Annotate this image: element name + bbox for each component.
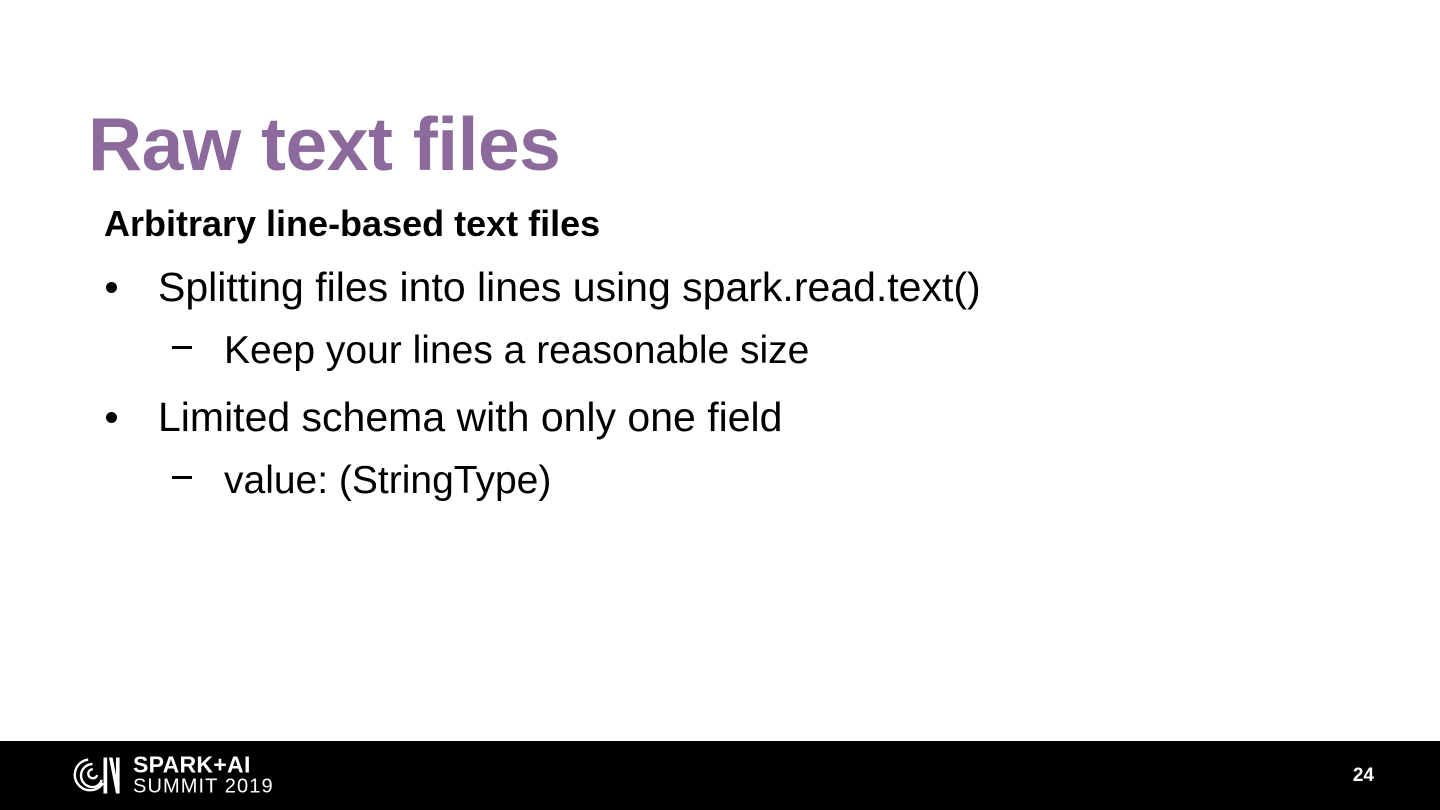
list-item: Limited schema with only one field bbox=[0, 396, 1440, 439]
logo-wordmark: SPARK+AI SUMMIT 2019 bbox=[133, 753, 274, 798]
presentation-slide: Raw text files Arbitrary line-based text… bbox=[0, 0, 1440, 810]
spark-ai-summit-spiral-icon bbox=[72, 754, 124, 798]
logo-secondary-text: SUMMIT 2019 bbox=[133, 777, 274, 798]
slide-body: Arbitrary line-based text files Splittin… bbox=[0, 206, 1440, 502]
lead-heading: Arbitrary line-based text files bbox=[104, 206, 1440, 242]
list-item: value: (StringType) bbox=[0, 461, 1440, 502]
bullet-dot-icon bbox=[100, 399, 158, 429]
list-item-label: Keep your lines a reasonable size bbox=[224, 331, 809, 372]
bullet-list: Splitting files into lines using spark.r… bbox=[0, 266, 1440, 502]
list-item-label: value: (StringType) bbox=[224, 461, 551, 502]
logo-primary-text: SPARK+AI bbox=[133, 753, 274, 777]
list-item-label: Splitting files into lines using spark.r… bbox=[158, 266, 981, 309]
brand-logo: SPARK+AI SUMMIT 2019 bbox=[72, 753, 274, 798]
slide-footer: SPARK+AI SUMMIT 2019 24 bbox=[0, 741, 1440, 810]
list-item: Splitting files into lines using spark.r… bbox=[0, 266, 1440, 309]
list-item-label: Limited schema with only one field bbox=[158, 396, 782, 439]
bullet-dot-icon bbox=[100, 269, 158, 299]
page-title: Raw text files bbox=[88, 107, 560, 182]
en-dash-icon bbox=[172, 463, 224, 493]
page-number: 24 bbox=[1353, 765, 1374, 787]
en-dash-icon bbox=[172, 333, 224, 363]
list-item: Keep your lines a reasonable size bbox=[0, 331, 1440, 372]
